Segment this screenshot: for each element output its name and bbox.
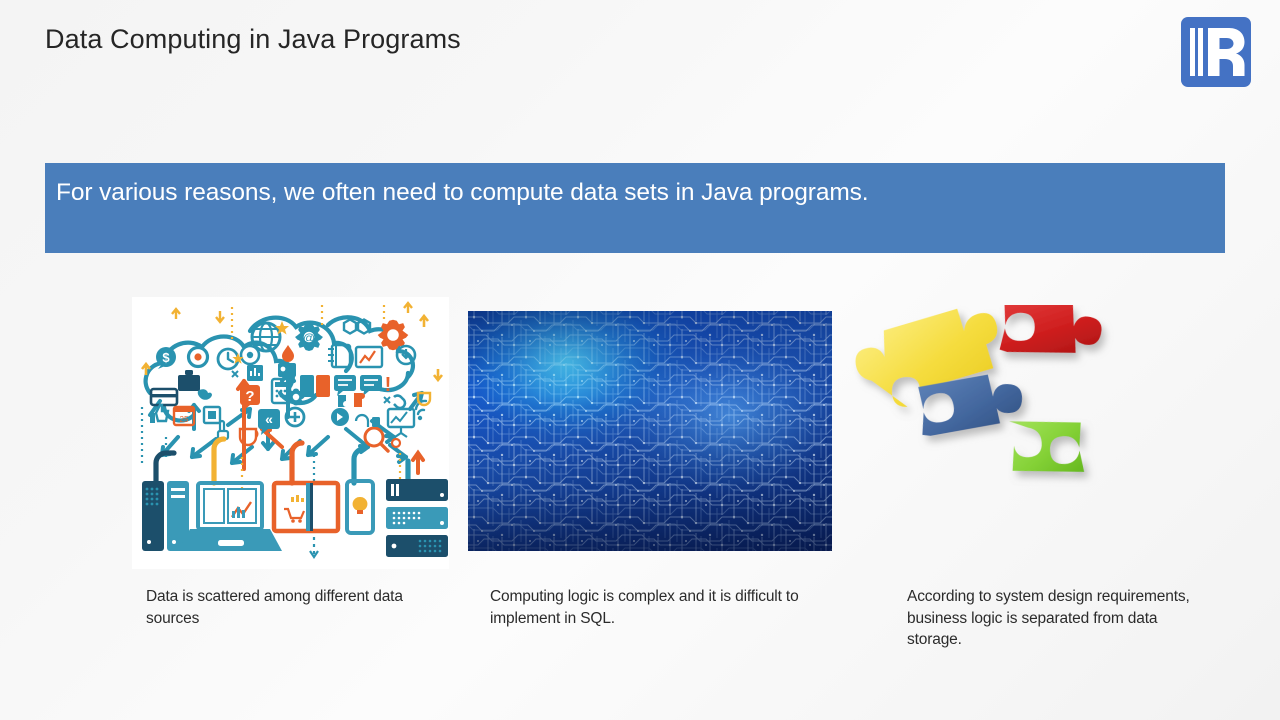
svg-text:«: « <box>265 411 273 427</box>
caption-business-logic: According to system design requirements,… <box>907 586 1207 651</box>
page-title: Data Computing in Java Programs <box>45 24 461 55</box>
banner-text: For various reasons, we often need to co… <box>56 178 1206 208</box>
svg-text:$: $ <box>162 350 170 365</box>
puzzle-pieces-image <box>845 305 1190 555</box>
caption-computing-logic: Computing logic is complex and it is dif… <box>490 586 810 629</box>
data-sources-infographic: $ 25 <box>132 297 449 569</box>
svg-text:?: ? <box>245 388 254 405</box>
caption-data-sources: Data is scattered among different data s… <box>146 586 446 629</box>
svg-text:!: ! <box>385 374 392 396</box>
svg-text:@: @ <box>303 331 315 345</box>
svg-text:25: 25 <box>180 415 189 424</box>
raqsoft-r-logo <box>1181 17 1251 87</box>
circuit-board-image <box>468 311 832 551</box>
highlight-banner: For various reasons, we often need to co… <box>45 163 1225 253</box>
